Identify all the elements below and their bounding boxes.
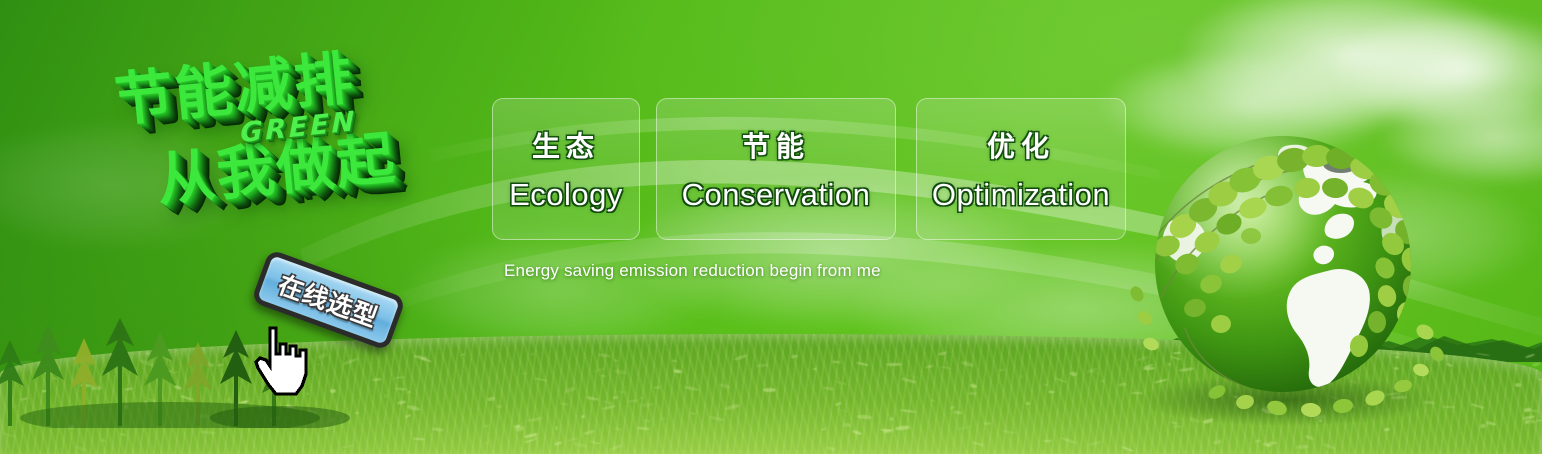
feature-card-title-en: Ecology <box>509 177 623 213</box>
feature-card-optimization[interactable]: 优化 Optimization <box>916 98 1126 240</box>
feature-card-title-cn: 节能 <box>742 125 810 165</box>
feature-card-ecology[interactable]: 生态 Ecology <box>492 98 640 240</box>
feature-card-conservation[interactable]: 节能 Conservation <box>656 98 896 240</box>
eco-banner: 节能减排 从我做起 GREEN 在线选型 生态 Ecology 节能 Conse… <box>0 0 1542 454</box>
feature-card-title-cn: 优化 <box>987 125 1055 165</box>
feature-card-title-cn: 生态 <box>532 125 600 165</box>
leafy-globe-icon <box>1125 118 1455 448</box>
banner-tagline: Energy saving emission reduction begin f… <box>504 261 881 281</box>
feature-card-title-en: Optimization <box>932 177 1110 213</box>
feature-card-title-en: Conservation <box>682 177 871 213</box>
